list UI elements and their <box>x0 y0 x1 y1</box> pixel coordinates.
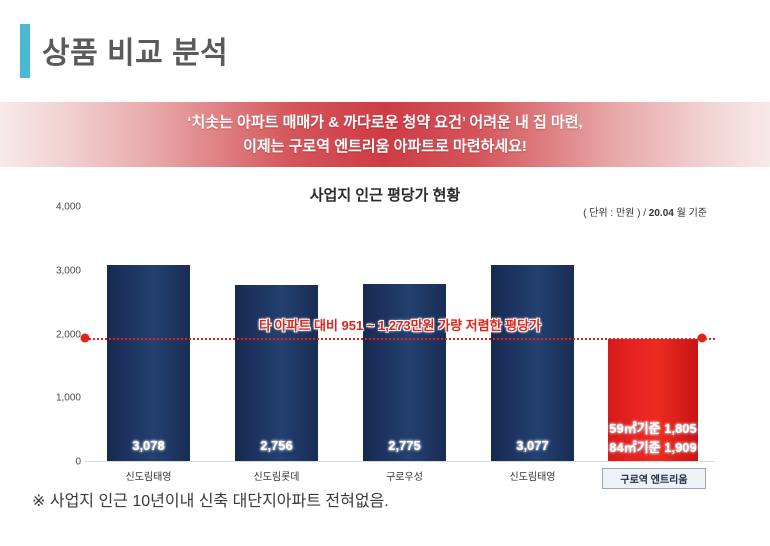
bar-sindorim-taeyoung-1[interactable]: 3,078 신도림태영 <box>107 265 190 461</box>
slide-canvas: 상품 비교 분석 ‘치솟는 아파트 매매가 & 까다로운 청약 요건’ 어려운 … <box>0 0 770 546</box>
bar-guro-entrium[interactable]: 59㎡기준 1,805 84㎡기준 1,909 구로역 엔트리움 <box>608 339 698 461</box>
banner-line-2: 이제는 구로역 엔트리움 아파트로 마련하세요! <box>243 135 527 158</box>
y-tick-1000: 1,000 <box>56 393 81 404</box>
chart-plot-area: 0 1,000 2,000 3,000 4,000 3,078 신도림태영 2,… <box>85 207 715 462</box>
reference-line <box>85 338 715 340</box>
slide-header: 상품 비교 분석 <box>0 0 770 100</box>
x-label-guro-woosung: 구로우성 <box>353 468 456 483</box>
x-label-guro-entrium: 구로역 엔트리움 <box>602 468 706 489</box>
reference-line-end-dot <box>698 334 707 343</box>
headline-banner: ‘치솟는 아파트 매매가 & 까다로운 청약 요건’ 어려운 내 집 마련, 이… <box>0 102 770 167</box>
bar-value-label: 3,078 <box>107 438 190 453</box>
chart-title: 사업지 인근 평당가 현황 <box>0 184 770 205</box>
header-accent-bar <box>20 24 30 78</box>
y-tick-4000: 4,000 <box>56 202 81 213</box>
x-label-sindorim-taeyoung-2: 신도림태영 <box>481 468 584 483</box>
y-tick-2000: 2,000 <box>56 329 81 340</box>
bar-sindorim-taeyoung-2[interactable]: 3,077 신도림태영 <box>491 265 574 461</box>
x-label-sindorim-taeyoung-1: 신도림태영 <box>97 468 200 483</box>
x-label-sindorim-lotte: 신도림롯데 <box>225 468 328 483</box>
bar-value-label: 2,756 <box>235 438 318 453</box>
bar-value-label-59: 59㎡기준 1,805 <box>608 418 698 437</box>
chart-container: 사업지 인근 평당가 현황 ( 단위 : 만원 ) / 20.04 월 기준 0… <box>0 172 770 482</box>
x-axis-baseline <box>85 461 715 462</box>
reference-line-start-dot <box>81 334 90 343</box>
footer-note: ※ 사업지 인근 10년이내 신축 대단지아파트 전혀없음. <box>32 487 389 511</box>
reference-line-annotation: 타 아파트 대비 951 ~ 1,273만원 가량 저렴한 평당가 <box>85 315 715 334</box>
bar-value-label: 2,775 <box>363 438 446 453</box>
bar-guro-woosung[interactable]: 2,775 구로우성 <box>363 284 446 461</box>
bar-value-label: 3,077 <box>491 438 574 453</box>
bar-sindorim-lotte[interactable]: 2,756 신도림롯데 <box>235 285 318 461</box>
bar-value-label-84: 84㎡기준 1,909 <box>608 437 698 456</box>
banner-line-1: ‘치솟는 아파트 매매가 & 까다로운 청약 요건’ 어려운 내 집 마련, <box>187 111 582 134</box>
y-tick-0: 0 <box>75 457 81 468</box>
y-tick-3000: 3,000 <box>56 265 81 276</box>
page-title: 상품 비교 분석 <box>42 28 228 72</box>
